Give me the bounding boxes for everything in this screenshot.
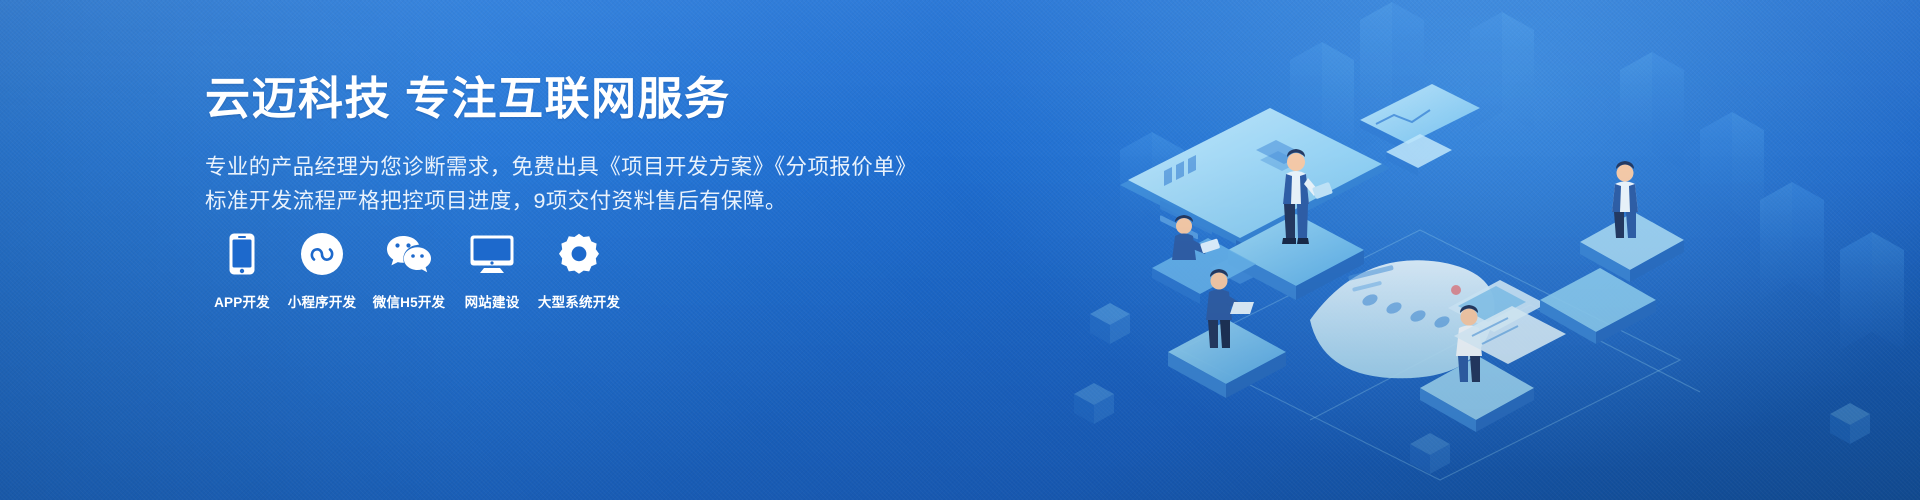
service-item-wechat-h5[interactable]: 微信H5开发	[365, 232, 453, 311]
service-label: 微信H5开发	[373, 291, 445, 311]
service-item-app[interactable]: APP开发	[205, 232, 279, 311]
wechat-icon	[386, 232, 432, 276]
subtitle-line-1: 专业的产品经理为您诊断需求，免费出具《项目开发方案》《分项报价单》	[205, 150, 965, 184]
floating-cubes	[1074, 303, 1870, 474]
service-label: 网站建设	[465, 291, 520, 311]
service-label: 小程序开发	[288, 291, 357, 311]
standing-person-on-platform	[1228, 149, 1364, 300]
floating-info-card	[1386, 134, 1452, 176]
wide-document-panel	[1454, 306, 1566, 364]
gear-icon	[558, 232, 600, 276]
banner-title: 云迈科技 专注互联网服务	[205, 72, 965, 125]
isometric-tech-illustration	[1060, 0, 1920, 500]
background-towers	[1120, 2, 1904, 350]
mini-program-icon	[301, 232, 343, 276]
person-on-steps	[1540, 161, 1684, 344]
person-with-laptop	[1168, 269, 1286, 398]
data-dashboard-screen	[1120, 108, 1390, 284]
banner-content: 云迈科技 专注互联网服务 专业的产品经理为您诊断需求，免费出具《项目开发方案》《…	[205, 72, 965, 218]
document-card-stack	[1310, 260, 1546, 378]
service-item-website[interactable]: 网站建设	[453, 232, 531, 311]
person-standing-right	[1420, 305, 1534, 432]
service-icon-row: APP开发 小程序开发 微信	[205, 232, 627, 311]
monitor-icon	[470, 232, 514, 276]
mobile-phone-icon	[229, 232, 255, 276]
banner-subtitle: 专业的产品经理为您诊断需求，免费出具《项目开发方案》《分项报价单》 标准开发流程…	[205, 150, 965, 218]
subtitle-line-2: 标准开发流程严格把控项目进度，9项交付资料售后有保障。	[205, 184, 965, 218]
service-item-large-system[interactable]: 大型系统开发	[531, 232, 627, 311]
service-item-mini-program[interactable]: 小程序开发	[279, 232, 365, 311]
seated-person-at-desk	[1152, 215, 1256, 304]
ground-grid	[1180, 230, 1700, 480]
chart-monitor	[1360, 84, 1480, 152]
service-label: APP开发	[214, 291, 270, 311]
service-label: 大型系统开发	[538, 291, 620, 311]
promo-banner: 云迈科技 专注互联网服务 专业的产品经理为您诊断需求，免费出具《项目开发方案》《…	[0, 0, 1920, 500]
